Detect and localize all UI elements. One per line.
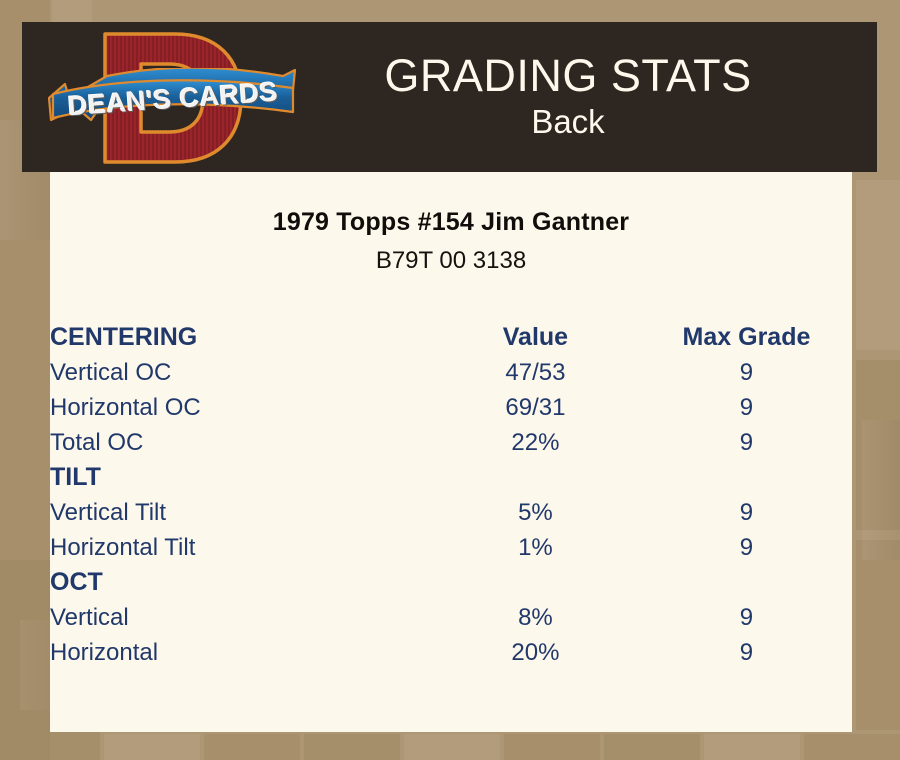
table-section-row: TILT: [50, 457, 852, 492]
section-spacer-value: [430, 457, 641, 492]
stat-label: Horizontal OC: [50, 387, 430, 422]
content-panel: 1979 Topps #154 Jim Gantner B79T 00 3138…: [50, 172, 852, 732]
column-header-max-grade: Max Grade: [641, 312, 852, 352]
card-title: 1979 Topps #154 Jim Gantner: [50, 208, 852, 237]
stat-label: Horizontal: [50, 632, 430, 667]
section-header-centering: CENTERING: [50, 312, 430, 352]
stat-value: 8%: [430, 597, 641, 632]
stat-max-grade: 9: [641, 632, 852, 667]
stat-label: Vertical OC: [50, 352, 430, 387]
grading-stats-table: CENTERINGValueMax GradeVertical OC47/539…: [50, 312, 852, 667]
stat-value: 5%: [430, 492, 641, 527]
table-row: Vertical Tilt5%9: [50, 492, 852, 527]
table-row: Total OC22%9: [50, 422, 852, 457]
stat-label: Vertical: [50, 597, 430, 632]
table-row: Horizontal Tilt1%9: [50, 527, 852, 562]
stat-label: Total OC: [50, 422, 430, 457]
stat-max-grade: 9: [641, 597, 852, 632]
stat-value: 47/53: [430, 352, 641, 387]
column-header-value: Value: [430, 312, 641, 352]
section-header-tilt: TILT: [50, 457, 430, 492]
table-row: Horizontal OC69/319: [50, 387, 852, 422]
table-row: Vertical OC47/539: [50, 352, 852, 387]
section-spacer-grade: [641, 457, 852, 492]
stat-max-grade: 9: [641, 422, 852, 457]
deans-cards-logo[interactable]: DEAN'S CARDS: [47, 24, 299, 170]
stat-label: Vertical Tilt: [50, 492, 430, 527]
stat-max-grade: 9: [641, 352, 852, 387]
stat-value: 1%: [430, 527, 641, 562]
stat-value: 22%: [430, 422, 641, 457]
table-header-row: CENTERINGValueMax Grade: [50, 312, 852, 352]
stat-label: Horizontal Tilt: [50, 527, 430, 562]
section-header-oct: OCT: [50, 562, 430, 597]
table-section-row: OCT: [50, 562, 852, 597]
header-title-group: GRADING STATS Back: [299, 52, 877, 143]
stat-value: 20%: [430, 632, 641, 667]
page-subtitle: Back: [299, 101, 837, 142]
section-spacer-value: [430, 562, 641, 597]
stat-max-grade: 9: [641, 387, 852, 422]
logo-ribbon: DEAN'S CARDS: [47, 68, 299, 130]
stat-max-grade: 9: [641, 492, 852, 527]
section-spacer-grade: [641, 562, 852, 597]
card-serial-number: B79T 00 3138: [50, 247, 852, 275]
table-row: Horizontal20%9: [50, 632, 852, 667]
app-header: DEAN'S CARDS GRADING STATS Back: [22, 22, 877, 172]
page-title: GRADING STATS: [299, 52, 837, 99]
table-row: Vertical8%9: [50, 597, 852, 632]
stat-value: 69/31: [430, 387, 641, 422]
stat-max-grade: 9: [641, 527, 852, 562]
